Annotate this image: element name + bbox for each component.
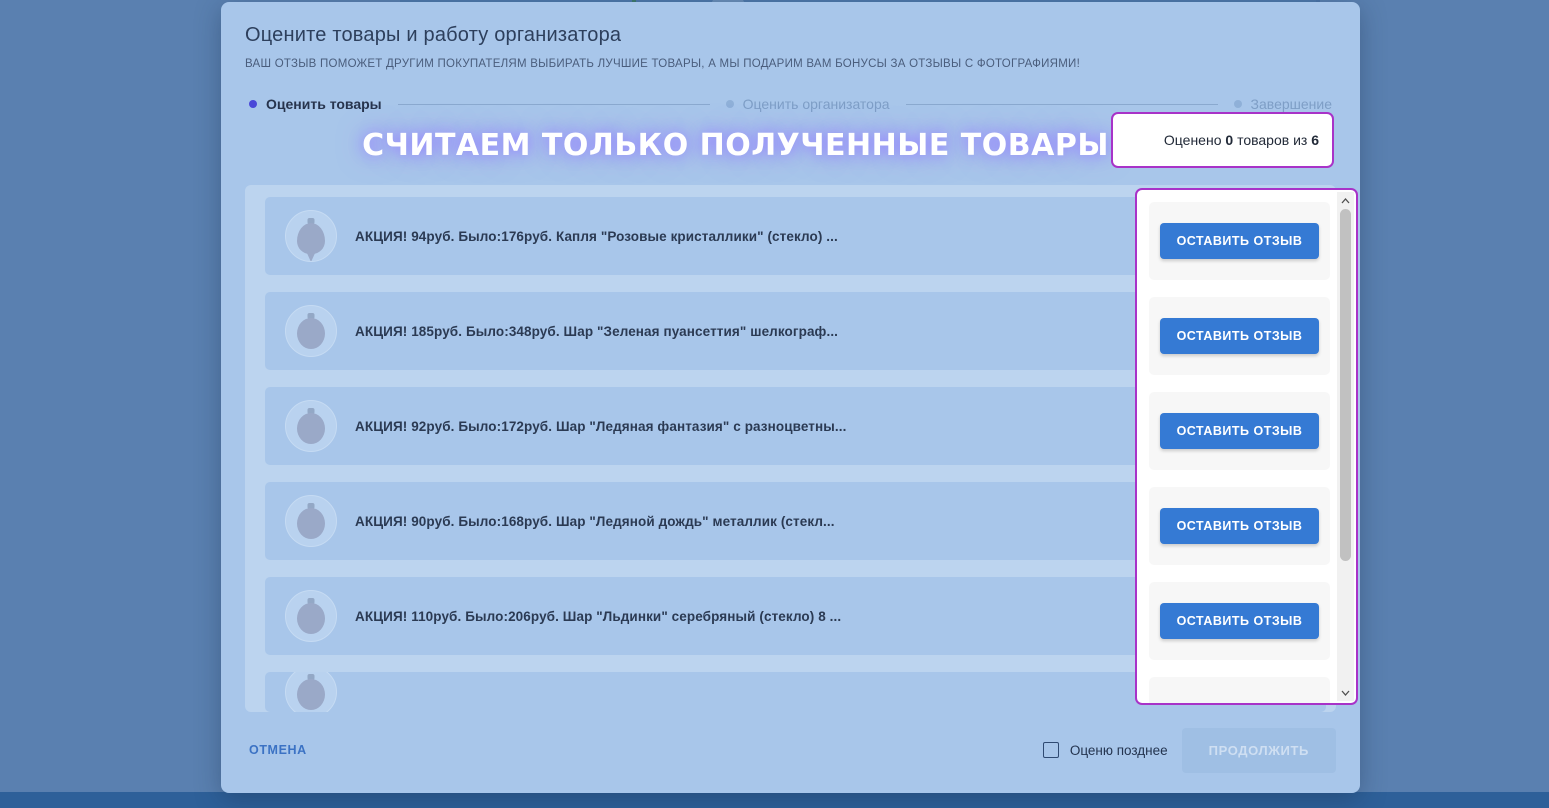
product-title: АКЦИЯ! 92руб. Было:172руб. Шар "Ледяная … bbox=[355, 419, 846, 434]
ornament-body-icon bbox=[297, 413, 325, 444]
review-cell: ОСТАВИТЬ ОТЗЫВ bbox=[1149, 297, 1330, 375]
list-scrollbar[interactable] bbox=[1337, 192, 1354, 701]
review-cell: ОСТАВИТЬ ОТЗЫВ bbox=[1149, 202, 1330, 280]
product-thumbnail bbox=[285, 590, 337, 642]
ornament-body-icon bbox=[297, 603, 325, 634]
scrollbar-track[interactable] bbox=[1337, 209, 1354, 684]
review-cell: ОСТАВИТЬ ОТЗЫВ bbox=[1149, 487, 1330, 565]
rate-products-modal: Оцените товары и работу организатора ВАШ… bbox=[221, 2, 1360, 793]
product-thumbnail bbox=[285, 495, 337, 547]
ornament-body-icon bbox=[297, 223, 325, 254]
review-buttons-inner: ОСТАВИТЬ ОТЗЫВ ОСТАВИТЬ ОТЗЫВ ОСТАВИТЬ О… bbox=[1137, 190, 1356, 703]
rate-later-option[interactable]: Оценю позднее bbox=[1043, 742, 1168, 758]
stepper-step-rate-products[interactable]: Оценить товары bbox=[249, 96, 382, 112]
scroll-down-icon[interactable] bbox=[1337, 684, 1354, 701]
modal-subtitle: ВАШ ОТЗЫВ ПОМОЖЕТ ДРУГИМ ПОКУПАТЕЛЯМ ВЫБ… bbox=[245, 58, 1336, 70]
product-thumbnail bbox=[285, 305, 337, 357]
leave-review-button[interactable]: ОСТАВИТЬ ОТЗЫВ bbox=[1160, 223, 1320, 259]
annotation-banner-row: СЧИТАЕМ ТОЛЬКО ПОЛУЧЕННЫЕ ТОВАРЫ Оценено… bbox=[245, 118, 1336, 176]
counter-rated-value: 0 bbox=[1225, 132, 1233, 148]
scrollbar-thumb[interactable] bbox=[1340, 209, 1351, 561]
stepper-label: Завершение bbox=[1251, 96, 1332, 112]
counter-middle: товаров из bbox=[1237, 132, 1307, 148]
stepper-step-completion[interactable]: Завершение bbox=[1234, 96, 1332, 112]
leave-review-button[interactable]: ОСТАВИТЬ ОТЗЫВ bbox=[1160, 603, 1320, 639]
leave-review-button[interactable]: ОСТАВИТЬ ОТЗЫВ bbox=[1160, 508, 1320, 544]
modal-header: Оцените товары и работу организатора ВАШ… bbox=[221, 2, 1360, 176]
review-buttons-column: ОСТАВИТЬ ОТЗЫВ ОСТАВИТЬ ОТЗЫВ ОСТАВИТЬ О… bbox=[1135, 188, 1358, 705]
rate-later-label: Оценю позднее bbox=[1070, 743, 1168, 758]
step-dot-icon bbox=[1234, 100, 1242, 108]
review-cell: ОСТАВИТЬ ОТЗЫВ bbox=[1149, 582, 1330, 660]
stepper-connector bbox=[398, 104, 710, 105]
product-thumbnail bbox=[285, 210, 337, 262]
modal-footer: ОТМЕНА Оценю позднее ПРОДОЛЖИТЬ bbox=[221, 707, 1360, 793]
ornament-body-icon bbox=[297, 679, 325, 710]
page-title: Оцените товары и работу организатора bbox=[245, 24, 1336, 47]
product-title: АКЦИЯ! 185руб. Было:348руб. Шар "Зеленая… bbox=[355, 324, 838, 339]
leave-review-button[interactable]: ОСТАВИТЬ ОТЗЫВ bbox=[1160, 318, 1320, 354]
product-title: АКЦИЯ! 90руб. Было:168руб. Шар "Ледяной … bbox=[355, 514, 835, 529]
cancel-button[interactable]: ОТМЕНА bbox=[249, 743, 307, 757]
review-cell: ОСТАВИТЬ ОТЗЫВ bbox=[1149, 392, 1330, 470]
footer-actions: Оценю позднее ПРОДОЛЖИТЬ bbox=[1043, 728, 1336, 773]
background-bottom-bar bbox=[0, 792, 1549, 808]
product-title: АКЦИЯ! 94руб. Было:176руб. Капля "Розовы… bbox=[355, 229, 838, 244]
stepper-connector bbox=[906, 104, 1218, 105]
step-dot-icon bbox=[726, 100, 734, 108]
rate-later-checkbox[interactable] bbox=[1043, 742, 1059, 758]
step-dot-icon bbox=[249, 100, 257, 108]
ornament-body-icon bbox=[297, 508, 325, 539]
leave-review-button[interactable]: ОСТАВИТЬ ОТЗЫВ bbox=[1160, 413, 1320, 449]
counter-total-value: 6 bbox=[1311, 132, 1319, 148]
rated-counter-box: Оценено 0 товаров из 6 bbox=[1111, 112, 1334, 168]
stepper-step-rate-organizer[interactable]: Оценить организатора bbox=[726, 96, 890, 112]
page-backdrop: "Льдинки" серебряный Оцените товары и ра… bbox=[0, 0, 1549, 808]
product-thumbnail bbox=[285, 400, 337, 452]
counter-prefix: Оценено bbox=[1164, 132, 1222, 148]
product-title: АКЦИЯ! 110руб. Было:206руб. Шар "Льдинки… bbox=[355, 609, 841, 624]
progress-stepper: Оценить товары Оценить организатора Заве… bbox=[245, 96, 1336, 112]
ornament-body-icon bbox=[297, 318, 325, 349]
stepper-label: Оценить организатора bbox=[743, 96, 890, 112]
continue-button[interactable]: ПРОДОЛЖИТЬ bbox=[1182, 728, 1336, 773]
scroll-up-icon[interactable] bbox=[1337, 192, 1354, 209]
review-cell bbox=[1149, 677, 1330, 705]
stepper-label: Оценить товары bbox=[266, 96, 382, 112]
product-thumbnail bbox=[285, 672, 337, 712]
